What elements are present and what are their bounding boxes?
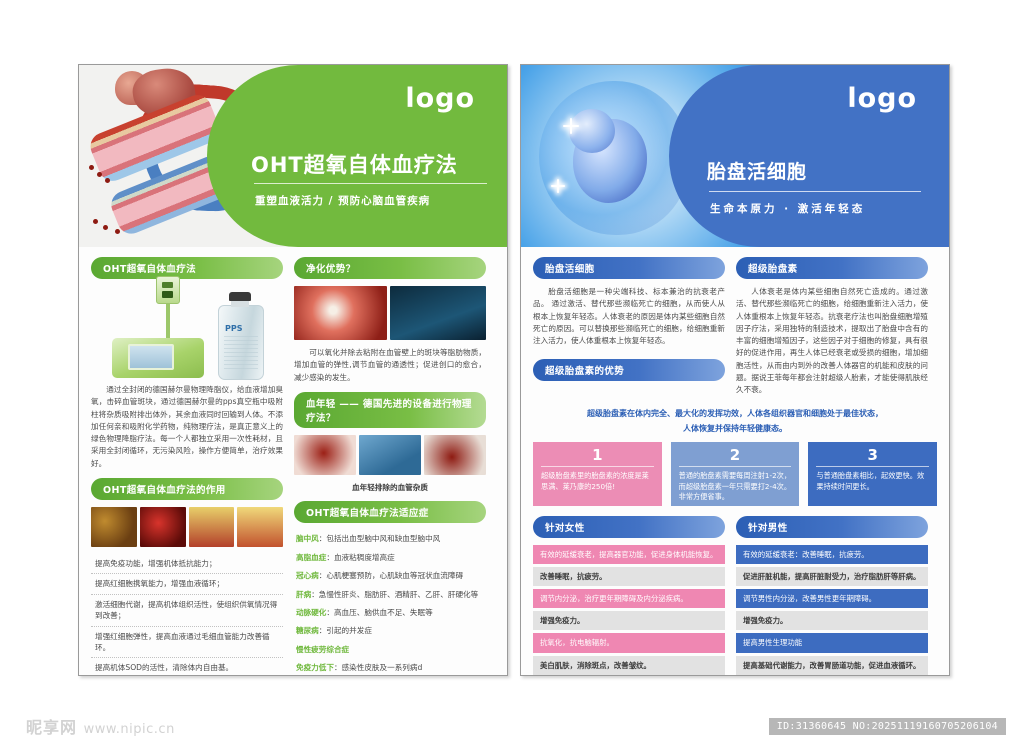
indication-desc: ：感染性皮肤及一系列病d	[334, 663, 422, 672]
hero-divider-right	[709, 191, 921, 192]
bottle-cap	[229, 292, 251, 301]
list-item: 增强红细胞弹性，提高血液通过毛细血管能力改善循环。	[91, 627, 283, 659]
benefit-stripe: 调节内分泌，治疗更年期障碍及内分泌疾病。	[533, 589, 725, 608]
equipment-photo-group: PPS	[91, 286, 283, 378]
procedure-photo	[359, 435, 421, 475]
indication-desc: ：血液粘稠度增高症	[326, 553, 394, 562]
list-item: 提高红细胞携氧能力，增强血液循环；	[91, 574, 283, 594]
indication-term: 脑中风	[296, 534, 319, 543]
watermark-bar: 昵享网 www.nipic.cn ID:31360645 NO:20251119…	[0, 700, 1024, 756]
indication-desc: ：引起的并发症	[319, 626, 372, 635]
clot-particle-icon	[89, 165, 94, 170]
right-page-column-2: 超级胎盘素 人体衰老是体内某些细胞自然死亡造成的。通过激活、替代那些濒临死亡的细…	[736, 257, 928, 405]
benefit-stripe: 美白肌肤，消除斑点，改善皱纹。	[533, 656, 725, 675]
section-heading-for-women: 针对女性	[533, 516, 725, 538]
for-women-section: 针对女性 有效的延缓衰老，提高器官功能，促进身体机能恢复。 改善睡眠，抗疲劳。 …	[533, 516, 725, 676]
section-heading-advantages: 超级胎盘素的优势	[533, 359, 725, 381]
indication-term: 糖尿病	[296, 626, 319, 635]
indication-term: 肝病	[296, 590, 311, 599]
effects-list: 提高免疫功能，增强机体抵抗能力； 提高红细胞携氧能力，增强血液循环； 激活细胞代…	[91, 554, 283, 676]
section-heading-indications: OHT超氧自体血疗法适应症	[294, 501, 486, 523]
advantage-boxes: 1 超级胎盘素里的胎盘素的浓度是莱思满、莱乃康的250倍! 2 普通的胎盘素需要…	[521, 442, 949, 506]
indication-term: 动脉硬化	[296, 608, 326, 617]
section-heading-super-placenta: 超级胎盘素	[736, 257, 928, 279]
advantage-number: 2	[679, 448, 792, 467]
hero-title-left: OHT超氧自体血疗法	[251, 149, 489, 179]
hero-subtitle-right: 生命本原力 · 激活年轻态	[710, 201, 865, 216]
hero-divider-left	[254, 183, 487, 184]
placenta-cells-paragraph: 胎盘活细胞是一种尖端科技、标本兼治的抗衰老产品。 通过激活、替代那些濒临死亡的细…	[533, 286, 725, 347]
benefit-stripe: 调节男性内分泌，改善男性更年期障碍。	[736, 589, 928, 608]
advantages-emphasis-line-1: 超级胎盘素在体内完全、最大化的发挥功效，人体各组织器官和细胞处于最佳状态，	[535, 407, 935, 420]
list-item: 糖尿病：引起的并发症	[294, 622, 486, 640]
pps-vacuum-bottle-icon: PPS	[218, 292, 262, 378]
bottle-text-lines	[224, 336, 258, 370]
hero-subtitle-left: 重塑血液活力 / 预防心脑血管疾病	[255, 193, 430, 208]
hero-banner-left: logo OHT超氧自体血疗法 重塑血液活力 / 预防心脑血管疾病	[79, 65, 507, 247]
machine-arm	[166, 300, 170, 340]
hand-thermogram-photo-2	[237, 507, 283, 547]
list-item: 高脂血症：血液粘稠度增高症	[294, 548, 486, 566]
machine-control-box	[156, 276, 180, 304]
indication-desc: ：包括出血型脑中风和缺血型脑中风	[319, 534, 441, 543]
section-heading-for-men: 针对男性	[736, 516, 928, 538]
page-right-body-top: 胎盘活细胞 胎盘活细胞是一种尖端科技、标本兼治的抗衰老产品。 通过激活、替代那些…	[521, 247, 949, 407]
machine-screen	[128, 344, 174, 370]
left-page-column-1: OHT超氧自体血疗法 PPS	[91, 257, 283, 676]
effects-photo-strip	[91, 507, 283, 547]
clot-particle-icon	[105, 178, 110, 183]
benefit-stripe: 提高男性生理功能	[736, 633, 928, 652]
ozone-machine-icon	[112, 320, 204, 378]
benefit-stripe: 有效的延缓衰老：改善睡眠，抗疲劳。	[736, 545, 928, 564]
indication-term: 免疫力低下	[296, 663, 334, 672]
section-heading-purify: 净化优势？	[294, 257, 486, 279]
benefit-stripe: 有效的延缓衰老，提高器官功能，促进身体机能恢复。	[533, 545, 725, 564]
purify-photo-strip	[294, 286, 486, 340]
extracted-impurity-photo-1	[294, 435, 356, 475]
section-heading-effects: OHT超氧自体血疗法的作用	[91, 478, 283, 500]
extracted-impurity-photo-2	[424, 435, 486, 475]
section-heading-intro: OHT超氧自体血疗法	[91, 257, 283, 279]
advantage-box-2: 2 普通的胎盘素需要每周注射1-2次，而超级胎盘素一年只需要打2-4次。非常方便…	[671, 442, 800, 506]
hero-title-right: 胎盘活细胞	[707, 157, 931, 184]
indication-desc: ：急慢性肝炎、脂肪肝、酒精肝、乙肝、肝硬化等	[311, 590, 478, 599]
watermark-id: ID:31360645 NO:20251119160705206104	[769, 718, 1006, 735]
benefit-stripe: 增强免疫力。	[533, 611, 725, 630]
indications-list: 脑中风：包括出血型脑中风和缺血型脑中风 高脂血症：血液粘稠度增高症 冠心病：心肌…	[294, 530, 486, 676]
equipment-photo-strip	[294, 435, 486, 475]
hand-thermogram-photo-1	[189, 507, 235, 547]
list-item: 冠心病：心肌梗塞预防，心肌缺血等冠状血流障碍	[294, 567, 486, 585]
benefit-stripe: 提高基础代谢能力，改善胃肠道功能，促进血液循环。	[736, 656, 928, 675]
advantage-box-3: 3 与普通胎盘素相比，起效更快。效果持续时间更长。	[808, 442, 937, 506]
list-item: 肝病：急慢性肝炎、脂肪肝、酒精肝、乙肝、肝硬化等	[294, 585, 486, 603]
sparkle-icon	[570, 118, 572, 134]
indication-desc: ：心肌梗塞预防，心肌缺血等冠状血流障碍	[319, 571, 463, 580]
section-heading-placenta-cells: 胎盘活细胞	[533, 257, 725, 279]
benefit-stripe: 促进肝脏机能，提高肝脏耐受力，治疗脂肪肝等肝病。	[736, 567, 928, 586]
list-item: 免疫力低下：感染性皮肤及一系列病d	[294, 659, 486, 676]
clot-particle-icon	[97, 172, 102, 177]
benefit-stripe: 抗氧化，抗电脑辐射。	[533, 633, 725, 652]
clot-particle-icon	[115, 229, 120, 234]
watermark-site-name: 昵享网	[26, 718, 77, 737]
list-item: 脑中风：包括出血型脑中风和缺血型脑中风	[294, 530, 486, 548]
list-item: 提高免疫功能，增强机体抵抗能力；	[91, 554, 283, 574]
logo-right: logo	[847, 83, 917, 114]
advantage-text: 超级胎盘素里的胎盘素的浓度是莱思满、莱乃康的250倍!	[541, 471, 654, 493]
advantage-text: 普通的胎盘素需要每周注射1-2次，而超级胎盘素一年只需要打2-4次。非常方便省事…	[679, 471, 792, 503]
section-heading-equipment: 血年轻 —— 德国先进的设备进行物理疗法？	[294, 392, 486, 428]
red-blood-cells-photo	[140, 507, 186, 547]
plaque-microscope-photo	[294, 286, 387, 340]
sparkle-icon	[557, 179, 559, 193]
advantage-number: 3	[816, 448, 929, 467]
clot-particle-icon	[103, 225, 108, 230]
advantages-emphasis-line-2: 人体恢复并保持年轻健康态。	[535, 422, 935, 435]
advantage-number: 1	[541, 448, 654, 467]
list-item: 提高机体SOD的活性，清除体内自由基。	[91, 658, 283, 676]
page-right-body-bottom: 针对女性 有效的延缓衰老，提高器官功能，促进身体机能恢复。 改善睡眠，抗疲劳。 …	[521, 516, 949, 676]
intro-paragraph: 通过全封闭的德国赫尔曼物理降脂仪，给血液增加臭氧，击碎血管斑块，通过德国赫尔曼的…	[91, 384, 283, 470]
purify-paragraph: 可以氧化并除去粘附在血管壁上的斑块等脂肪物质，增加血管的弹性,调节血管的通透性；…	[294, 347, 486, 384]
list-item: 动脉硬化：高血压、脑供血不足、失眠等	[294, 603, 486, 621]
brochure-page-right: logo 胎盘活细胞 生命本原力 · 激活年轻态 胎盘活细胞 胎盘活细胞是一种尖…	[520, 64, 950, 676]
logo-left: logo	[405, 83, 475, 114]
bottle-neck	[231, 300, 249, 307]
fetus-head-icon	[569, 109, 615, 153]
page-left-body: OHT超氧自体血疗法 PPS	[79, 247, 507, 676]
benefit-stripe: 增强免疫力。	[736, 611, 928, 630]
bottle-label: PPS	[225, 324, 243, 333]
list-item: 慢性疲劳综合症	[294, 640, 486, 658]
vessel-plaque-stages-photo	[390, 286, 486, 340]
brochure-spread: logo OHT超氧自体血疗法 重塑血液活力 / 预防心脑血管疾病 OHT超氧自…	[0, 0, 1024, 756]
bottle-body: PPS	[218, 305, 264, 380]
indication-term: 高脂血症	[296, 553, 326, 562]
right-page-column-1: 胎盘活细胞 胎盘活细胞是一种尖端科技、标本兼治的抗衰老产品。 通过激活、替代那些…	[533, 257, 725, 405]
clot-particle-icon	[93, 219, 98, 224]
watermark-brand: 昵享网 www.nipic.cn	[26, 714, 175, 738]
left-page-column-2: 净化优势？ 可以氧化并除去粘附在血管壁上的斑块等脂肪物质，增加血管的弹性,调节血…	[294, 257, 486, 676]
watermark-url: www.nipic.cn	[84, 722, 175, 737]
indication-desc: ：高血压、脑供血不足、失眠等	[326, 608, 432, 617]
advantage-text: 与普通胎盘素相比，起效更快。效果持续时间更长。	[816, 471, 929, 493]
hero-banner-right: logo 胎盘活细胞 生命本原力 · 激活年轻态	[521, 65, 949, 247]
for-men-section: 针对男性 有效的延缓衰老：改善睡眠，抗疲劳。 促进肝脏机能，提高肝脏耐受力，治疗…	[736, 516, 928, 676]
equipment-caption: 血年轻排除的血管杂质	[294, 482, 486, 493]
list-item: 激活细胞代谢，提高机体组织活性，使组织供氧情况得到改善；	[91, 595, 283, 627]
super-placenta-paragraph: 人体衰老是体内某些细胞自然死亡造成的。通过激活、替代那些濒临死亡的细胞，给细胞重…	[736, 286, 928, 397]
advantage-box-1: 1 超级胎盘素里的胎盘素的浓度是莱思满、莱乃康的250倍!	[533, 442, 662, 506]
tissue-photo	[91, 507, 137, 547]
indication-term: 冠心病	[296, 571, 319, 580]
indication-term: 慢性疲劳综合症	[296, 645, 349, 654]
benefit-stripe: 改善睡眠，抗疲劳。	[533, 567, 725, 586]
brochure-page-left: logo OHT超氧自体血疗法 重塑血液活力 / 预防心脑血管疾病 OHT超氧自…	[78, 64, 508, 676]
